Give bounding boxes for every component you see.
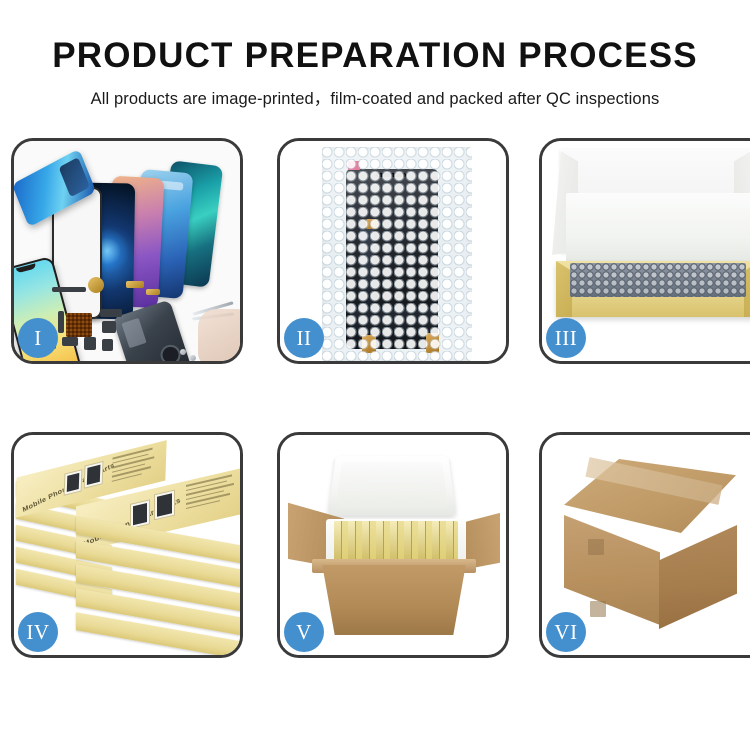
- panel-frame: V: [277, 432, 509, 658]
- technician-hand: [198, 309, 240, 361]
- carton-handle-tab-top: [588, 539, 604, 555]
- carton-front-face: [564, 515, 660, 625]
- header: PRODUCT PREPARATION PROCESS All products…: [0, 0, 750, 109]
- small-bracket-1: [58, 311, 64, 333]
- speaker-ring-part: [88, 277, 104, 293]
- flex-cable-dark-2: [102, 321, 116, 333]
- white-foam-pad: [566, 193, 750, 265]
- pink-qc-label: [348, 161, 360, 170]
- box-label-thumb-2a: [130, 499, 150, 529]
- carton-handle-tab-bottom: [590, 601, 606, 617]
- panel-frame: VI: [539, 432, 750, 658]
- carton-side-face: [659, 525, 737, 629]
- screw-1: [180, 349, 186, 355]
- step-card-1[interactable]: I: [11, 138, 243, 364]
- step-badge-5: V: [284, 612, 324, 652]
- box-spec-lines-2: [186, 473, 236, 512]
- step-badge-3: III: [546, 318, 586, 358]
- step-card-5[interactable]: V: [277, 432, 509, 658]
- box-spec-lines-1: [112, 447, 157, 485]
- flex-cable-gold-2: [146, 289, 160, 295]
- screw-2: [190, 355, 196, 361]
- page-title: PRODUCT PREPARATION PROCESS: [0, 0, 750, 76]
- step-card-6[interactable]: VI: [539, 432, 750, 658]
- earpiece-mesh-part: [52, 287, 86, 292]
- box-label-thumb-1b: [84, 461, 104, 489]
- step-badge-1: I: [18, 318, 58, 358]
- styrofoam-lid: [328, 456, 456, 516]
- panel-frame: II: [277, 138, 509, 364]
- step-badge-2: II: [284, 318, 324, 358]
- small-connector-2: [62, 337, 78, 346]
- carton-body: [316, 565, 472, 635]
- connector-grid-chip: [66, 313, 92, 337]
- product-preparation-infographic: PRODUCT PREPARATION PROCESS All products…: [0, 0, 750, 750]
- bubble-wrap-bag: [322, 147, 472, 361]
- step-card-2[interactable]: II: [277, 138, 509, 364]
- box-label-thumb-2b: [154, 490, 175, 521]
- small-connector-3: [84, 337, 96, 350]
- step-badge-4: IV: [18, 612, 58, 652]
- page-subtitle: All products are image-printed，film-coat…: [0, 76, 750, 109]
- step-badge-6: VI: [546, 612, 586, 652]
- camera-module-part: [102, 339, 113, 351]
- panel-frame: Mobile Phone Spare Parts Mobile Phone Sp…: [11, 432, 243, 658]
- connector-top: [366, 219, 378, 229]
- connector-bottom-right: [426, 333, 439, 353]
- step-card-3[interactable]: III: [539, 138, 750, 364]
- gray-bubble-wrap-contents: [570, 263, 746, 297]
- step-card-4[interactable]: Mobile Phone Spare Parts Mobile Phone Sp…: [11, 432, 243, 658]
- packed-yellow-boxes: [334, 521, 458, 563]
- connector-bottom-left: [362, 335, 376, 353]
- box-label-thumb-1a: [64, 469, 83, 496]
- panel-frame: III: [539, 138, 750, 364]
- panel-frame: I: [11, 138, 243, 364]
- flex-cable-gold-1: [126, 281, 144, 288]
- steps-grid: I II: [11, 138, 739, 684]
- flex-cable-dark-1: [100, 309, 122, 317]
